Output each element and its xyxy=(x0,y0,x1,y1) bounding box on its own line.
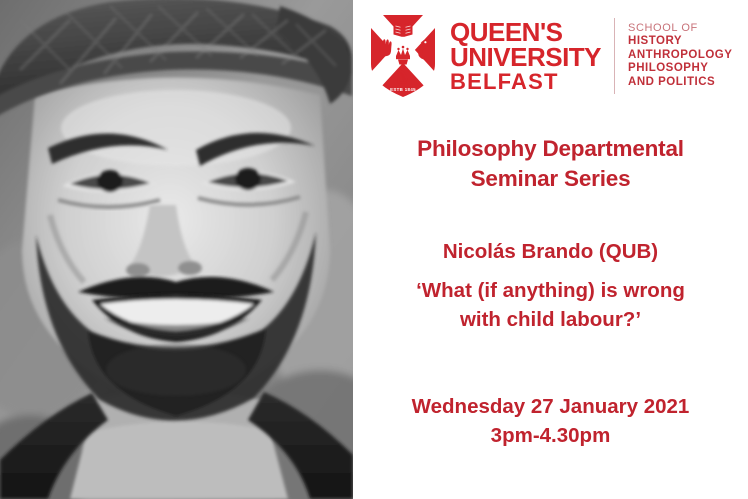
school-line-philosophy: PHILOSOPHY xyxy=(628,62,732,76)
logo-divider xyxy=(614,18,615,94)
seminar-poster: ESTB 1845 QUEEN'S UNIVERSITY BELFAST SCH… xyxy=(0,0,748,499)
school-line-anthropology: ANTHROPOLOGY xyxy=(628,49,732,63)
event-date: Wednesday 27 January 2021 xyxy=(353,393,748,422)
qub-logo-lockup: ESTB 1845 QUEEN'S UNIVERSITY BELFAST SCH… xyxy=(353,6,748,106)
crest-established-text: ESTB 1845 xyxy=(390,87,416,92)
event-datetime: Wednesday 27 January 2021 3pm-4.30pm xyxy=(353,393,748,450)
queens-crest-icon: ESTB 1845 xyxy=(368,12,438,100)
speaker-name-text: Nicolás Brando (QUB) xyxy=(353,238,748,265)
portrait-illustration xyxy=(0,0,353,499)
school-name-block: SCHOOL OF HISTORY ANTHROPOLOGY PHILOSOPH… xyxy=(628,22,732,89)
speaker-name: Nicolás Brando (QUB) xyxy=(353,238,748,265)
school-of-label: SCHOOL OF xyxy=(628,22,732,35)
talk-title-line-2: with child labour?’ xyxy=(353,306,748,335)
event-time: 3pm-4.30pm xyxy=(353,422,748,451)
wordmark-line-university: UNIVERSITY xyxy=(450,45,601,70)
seminar-series-heading: Philosophy Departmental Seminar Series xyxy=(353,134,748,194)
talk-title-line-1: ‘What (if anything) is wrong xyxy=(353,277,748,306)
seminar-series-line-2: Seminar Series xyxy=(353,164,748,194)
speaker-portrait-photo xyxy=(0,0,353,499)
school-line-and-politics: AND POLITICS xyxy=(628,76,732,90)
school-line-history: HISTORY xyxy=(628,35,732,49)
content-panel: ESTB 1845 QUEEN'S UNIVERSITY BELFAST SCH… xyxy=(353,0,748,499)
seminar-series-line-1: Philosophy Departmental xyxy=(353,134,748,164)
talk-title: ‘What (if anything) is wrong with child … xyxy=(353,277,748,334)
wordmark-line-belfast: BELFAST xyxy=(450,71,601,92)
qub-wordmark: QUEEN'S UNIVERSITY BELFAST xyxy=(450,20,601,92)
